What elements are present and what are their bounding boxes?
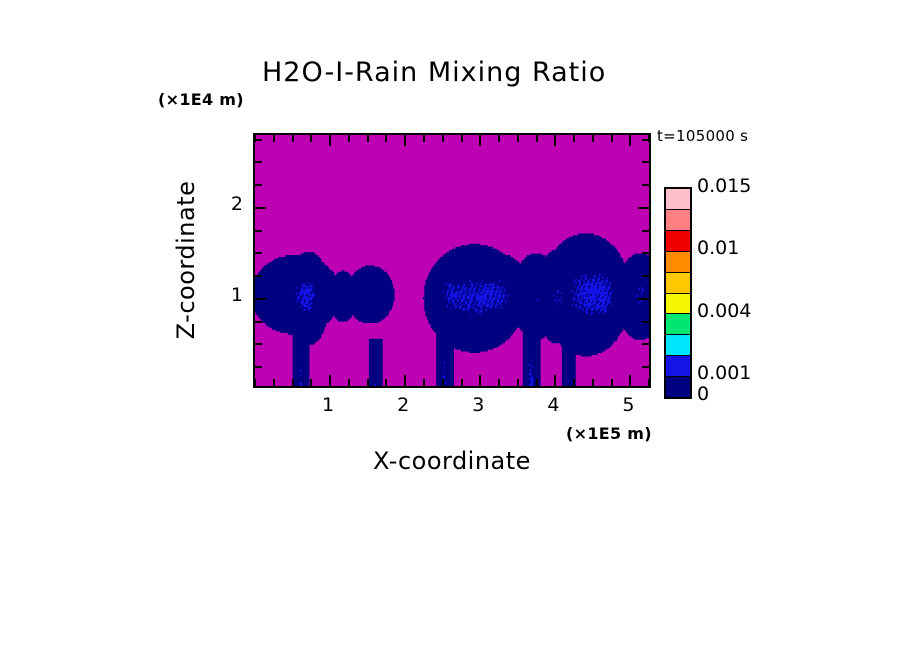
x-minor-tick [254,379,256,386]
colorbar-band [666,189,690,210]
y-minor-tick-right [642,184,649,186]
x-major-tick [479,375,481,386]
x-major-tick-top [554,135,556,146]
x-minor-tick [273,379,275,386]
colorbar-band [666,210,690,231]
colorbar-band [666,314,690,335]
x-major-tick [554,375,556,386]
x-minor-tick-top [367,135,369,142]
y-minor-tick [255,230,262,232]
x-minor-tick-top [310,135,312,142]
y-major-tick-right [638,207,649,209]
colorbar-band [666,356,690,377]
x-major-tick [629,375,631,386]
y-minor-tick [255,161,262,163]
colorbar-band [666,252,690,273]
x-major-tick [404,375,406,386]
x-minor-tick [573,379,575,386]
colorbar-band [666,273,690,294]
x-minor-tick [423,379,425,386]
colorbar-tick-label: 0.01 [697,237,739,259]
x-minor-tick-top [592,135,594,142]
x-minor-tick-top [498,135,500,142]
heatmap-canvas [255,135,649,386]
colorbar-tick-label: 0.015 [697,175,751,197]
x-minor-tick [517,379,519,386]
x-minor-tick [348,379,350,386]
y-tick-label: 2 [213,193,243,215]
x-major-tick-top [329,135,331,146]
x-minor-tick [592,379,594,386]
y-major-tick [255,298,266,300]
y-minor-tick [255,139,262,141]
x-tick-label: 1 [308,394,348,416]
x-minor-tick-top [292,135,294,142]
time-annotation: t=105000 s [657,127,748,145]
x-tick-label: 2 [383,394,423,416]
plot-figure: H2O-I-Rain Mixing Ratio (×1E4 m) t=10500… [0,0,904,654]
y-major-tick-right [638,298,649,300]
x-minor-tick [385,379,387,386]
y-minor-tick [255,343,262,345]
y-minor-tick [255,275,262,277]
colorbar-band [666,231,690,252]
plot-area [253,133,651,388]
x-axis-title: X-coordinate [253,447,651,475]
x-minor-tick-top [517,135,519,142]
colorbar [664,187,692,399]
x-axis-unit-label: (×1E5 m) [566,424,652,443]
x-minor-tick-top [385,135,387,142]
y-minor-tick-right [642,366,649,368]
colorbar-tick-label: 0 [697,383,709,405]
y-axis-unit-label: (×1E4 m) [158,90,244,109]
x-minor-tick [498,379,500,386]
x-major-tick-top [479,135,481,146]
x-minor-tick [367,379,369,386]
x-minor-tick [461,379,463,386]
y-minor-tick [255,184,262,186]
x-minor-tick [648,379,650,386]
y-tick-label: 1 [213,284,243,306]
y-minor-tick [255,321,262,323]
x-minor-tick [536,379,538,386]
colorbar-band [666,377,690,397]
y-minor-tick-right [642,321,649,323]
x-minor-tick [611,379,613,386]
y-minor-tick [255,252,262,254]
x-minor-tick-top [573,135,575,142]
x-tick-label: 5 [608,394,648,416]
y-minor-tick-right [642,230,649,232]
y-minor-tick-right [642,343,649,345]
x-minor-tick-top [273,135,275,142]
x-minor-tick [442,379,444,386]
x-minor-tick-top [423,135,425,142]
colorbar-tick-label: 0.004 [697,300,751,322]
y-minor-tick-right [642,252,649,254]
y-minor-tick [255,366,262,368]
x-minor-tick [310,379,312,386]
colorbar-band [666,294,690,315]
x-minor-tick-top [611,135,613,142]
colorbar-band [666,335,690,356]
x-major-tick-top [629,135,631,146]
y-minor-tick-right [642,275,649,277]
x-major-tick-top [404,135,406,146]
x-major-tick [329,375,331,386]
x-tick-label: 3 [458,394,498,416]
y-minor-tick-right [642,161,649,163]
x-tick-label: 4 [533,394,573,416]
x-minor-tick [292,379,294,386]
colorbar-tick-label: 0.001 [697,362,751,384]
x-minor-tick-top [442,135,444,142]
x-minor-tick-top [461,135,463,142]
y-minor-tick-right [642,139,649,141]
x-minor-tick-top [536,135,538,142]
y-major-tick [255,207,266,209]
page-title: H2O-I-Rain Mixing Ratio [262,57,606,88]
y-axis-title: Z-coordinate [172,181,200,340]
x-minor-tick-top [348,135,350,142]
